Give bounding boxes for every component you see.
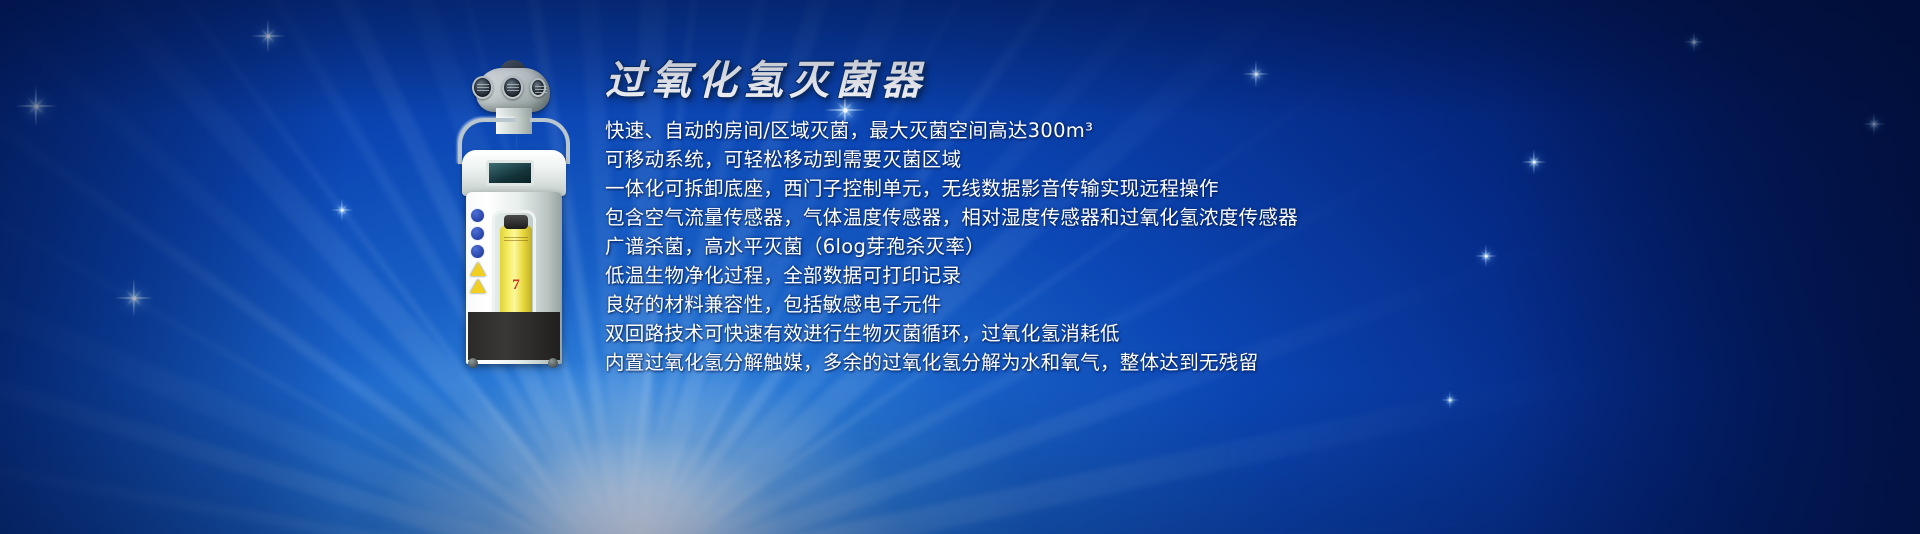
product-image: 7 bbox=[444, 62, 584, 374]
nozzle-icon bbox=[530, 78, 546, 97]
feature-text: 良好的材料兼容性，包括敏感电子元件 bbox=[605, 293, 942, 316]
peroxide-bottle: 7 bbox=[500, 225, 532, 321]
machine-base-dark bbox=[468, 312, 560, 360]
machine-safety-labels bbox=[470, 208, 488, 296]
warning-triangle-icon bbox=[470, 279, 486, 293]
warning-triangle-icon bbox=[470, 262, 486, 276]
feature-text: 一体化可拆卸底座，西门子控制单元，无线数据影音传输实现远程操作 bbox=[605, 177, 1219, 200]
feature-text: 双回路技术可快速有效进行生物灭菌循环，过氧化氢消耗低 bbox=[605, 322, 1120, 345]
bottle-label bbox=[504, 237, 528, 241]
nozzle-icon bbox=[472, 76, 493, 99]
bottle-number: 7 bbox=[500, 277, 532, 294]
feature-text: 内置过氧化氢分解触媒，多余的过氧化氢分解为水和氧气，整体达到无残留 bbox=[605, 351, 1258, 374]
mandatory-ppe-icon bbox=[470, 244, 485, 259]
nozzle-icon bbox=[502, 76, 523, 99]
feature-line: 低温生物净化过程，全部数据可打印记录 bbox=[605, 261, 1865, 290]
bottle-cap-icon bbox=[504, 215, 528, 229]
page-title: 过氧化氢灭菌器 bbox=[605, 58, 1865, 104]
feature-line: 良好的材料兼容性，包括敏感电子元件 bbox=[605, 290, 1865, 319]
feature-text: 可移动系统，可轻松移动到需要灭菌区域 bbox=[605, 148, 961, 171]
no-entry-icon bbox=[470, 208, 485, 223]
feature-text: 低温生物净化过程，全部数据可打印记录 bbox=[605, 264, 961, 287]
feature-line: 一体化可拆卸底座，西门子控制单元，无线数据影音传输实现远程操作 bbox=[605, 174, 1865, 203]
caster-wheel-icon bbox=[468, 358, 478, 368]
feature-line: 可移动系统，可轻松移动到需要灭菌区域 bbox=[605, 145, 1865, 174]
feature-line: 快速、自动的房间/区域灭菌，最大灭菌空间高达300m³ bbox=[605, 116, 1865, 145]
feature-line: 广谱杀菌，高水平灭菌（6log芽孢杀灭率） bbox=[605, 232, 1865, 261]
control-panel-screen bbox=[486, 160, 534, 186]
product-banner: 7 过氧化氢灭菌器 快速、自动的房间/区域灭菌，最大灭菌空间高达300m³ 可移… bbox=[0, 0, 1920, 534]
light-ray bbox=[622, 503, 1720, 534]
banner-content: 过氧化氢灭菌器 快速、自动的房间/区域灭菌，最大灭菌空间高达300m³ 可移动系… bbox=[605, 58, 1865, 377]
light-ray bbox=[0, 385, 627, 534]
caster-wheel-icon bbox=[548, 358, 558, 368]
feature-text: 广谱杀菌，高水平灭菌（6log芽孢杀灭率） bbox=[605, 235, 985, 258]
feature-line: 内置过氧化氢分解触媒，多余的过氧化氢分解为水和氧气，整体达到无残留 bbox=[605, 348, 1865, 377]
feature-line: 包含空气流量传感器，气体温度传感器，相对湿度传感器和过氧化氢浓度传感器 bbox=[605, 203, 1865, 232]
feature-text: 快速、自动的房间/区域灭菌，最大灭菌空间高达300m³ bbox=[605, 119, 1093, 142]
feature-line: 双回路技术可快速有效进行生物灭菌循环，过氧化氢消耗低 bbox=[605, 319, 1865, 348]
no-access-icon bbox=[470, 226, 485, 241]
feature-text: 包含空气流量传感器，气体温度传感器，相对湿度传感器和过氧化氢浓度传感器 bbox=[605, 206, 1298, 229]
